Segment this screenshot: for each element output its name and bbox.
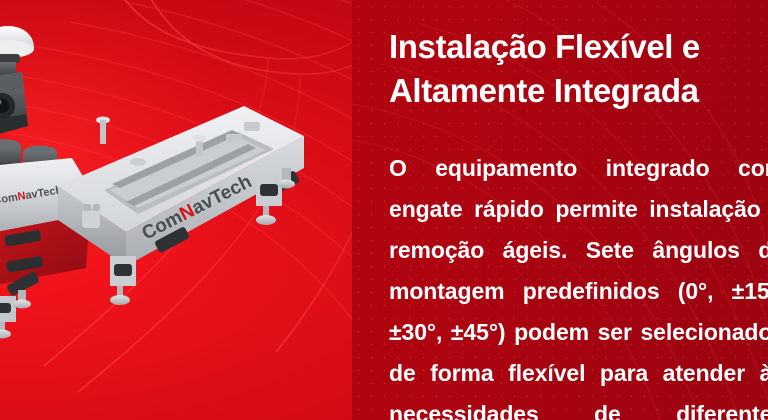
- gnss-antenna-dome: [0, 26, 34, 63]
- text-column: Instalação Flexível e Altamente Integrad…: [389, 0, 768, 420]
- side-latch-left: [82, 210, 100, 228]
- headline-line-1: Instalação Flexível e: [389, 25, 768, 69]
- camera-lidar-head: [0, 72, 28, 138]
- headline-line-2: Altamente Integrada: [389, 69, 768, 113]
- headline: Instalação Flexível e Altamente Integrad…: [389, 25, 768, 113]
- product-image-mobile-mapping-scanner: ComNavTech ComNavTech: [0, 18, 316, 378]
- body-paragraph: O equipamento integrado com engate rápid…: [389, 148, 768, 420]
- promo-slide: ComNavTech ComNavTech: [0, 0, 768, 420]
